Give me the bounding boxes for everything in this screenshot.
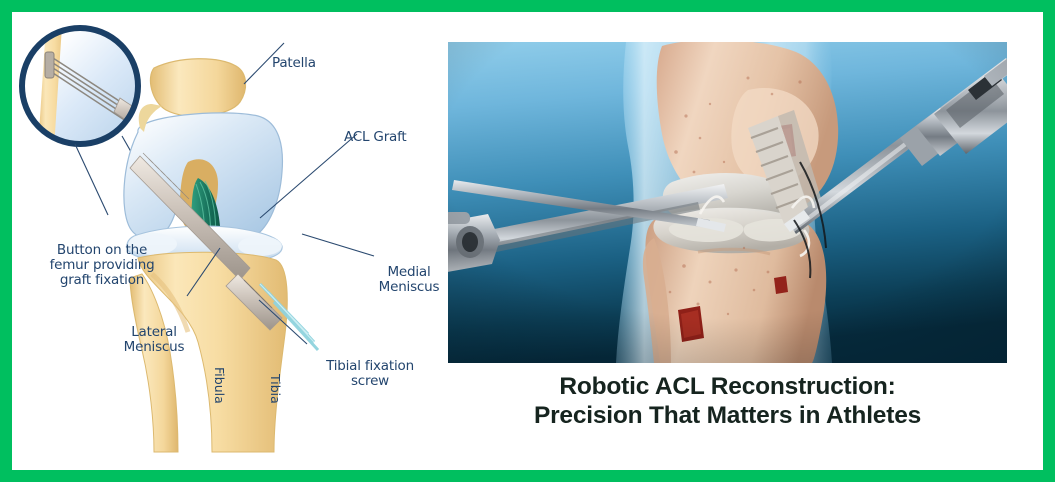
surgical-render-image [448, 42, 1007, 363]
label-acl-graft: ACL Graft [344, 130, 407, 145]
label-patella: Patella [272, 56, 316, 71]
label-tibia: Tibia [268, 374, 283, 404]
label-lateral-meniscus: Lateral Meniscus [116, 325, 192, 355]
patella-shape [150, 59, 245, 117]
caption-line-2: Precision That Matters in Athletes [448, 401, 1007, 430]
caption-line-1: Robotic ACL Reconstruction: [448, 372, 1007, 401]
label-medial-meniscus: Medial Meniscus [378, 265, 440, 295]
knee-anatomy-illustration: Patella ACL Graft Button on the femur pr… [12, 12, 436, 470]
infographic-canvas: Patella ACL Graft Button on the femur pr… [0, 0, 1055, 482]
caption-title: Robotic ACL Reconstruction: Precision Th… [448, 372, 1007, 430]
label-fibula: Fibula [212, 367, 227, 404]
label-tibial-fixation-screw: Tibial fixation screw [324, 359, 416, 389]
label-button-femur: Button on the femur providing graft fixa… [20, 243, 184, 288]
